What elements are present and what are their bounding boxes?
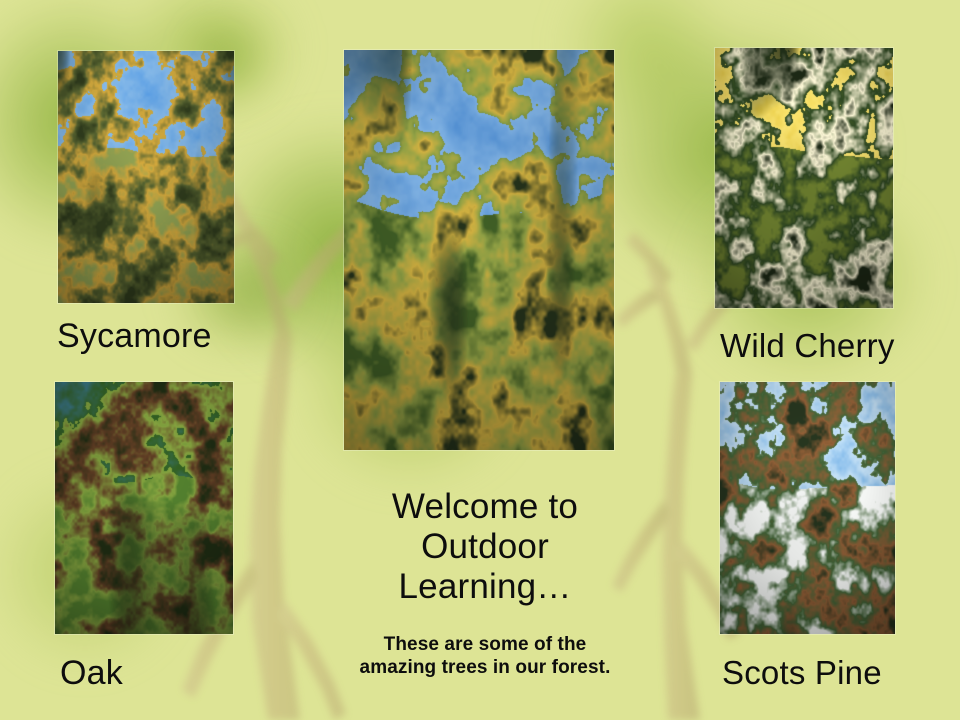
caption-sycamore: Sycamore	[57, 317, 212, 356]
photo-canopy-centre	[344, 50, 614, 450]
photo-sycamore	[58, 51, 234, 303]
caption-wild-cherry: Wild Cherry	[720, 327, 895, 365]
photo-scots-pine	[720, 382, 895, 634]
photo-image-sycamore	[58, 51, 234, 303]
subtitle-line-2: amazing trees in our forest.	[325, 656, 645, 679]
page-title: Welcome to Outdoor Learning…	[340, 487, 630, 607]
subtitle: These are some of the amazing trees in o…	[325, 633, 645, 679]
photo-oak	[55, 382, 233, 634]
photo-image-centre	[344, 50, 614, 450]
caption-oak: Oak	[60, 654, 123, 693]
title-line-1: Welcome to	[340, 487, 630, 527]
photo-image-wild-cherry	[715, 48, 893, 308]
title-line-3: Learning…	[340, 567, 630, 607]
caption-scots-pine: Scots Pine	[722, 654, 882, 692]
slide-canvas: Sycamore Oak Wild Cherry Scots Pine Welc…	[0, 0, 960, 720]
photo-image-scots-pine	[720, 382, 895, 634]
photo-wild-cherry	[715, 48, 893, 308]
photo-image-oak	[55, 382, 233, 634]
subtitle-line-1: These are some of the	[325, 633, 645, 656]
title-line-2: Outdoor	[340, 527, 630, 567]
title-block: Welcome to Outdoor Learning… These are s…	[340, 487, 630, 679]
